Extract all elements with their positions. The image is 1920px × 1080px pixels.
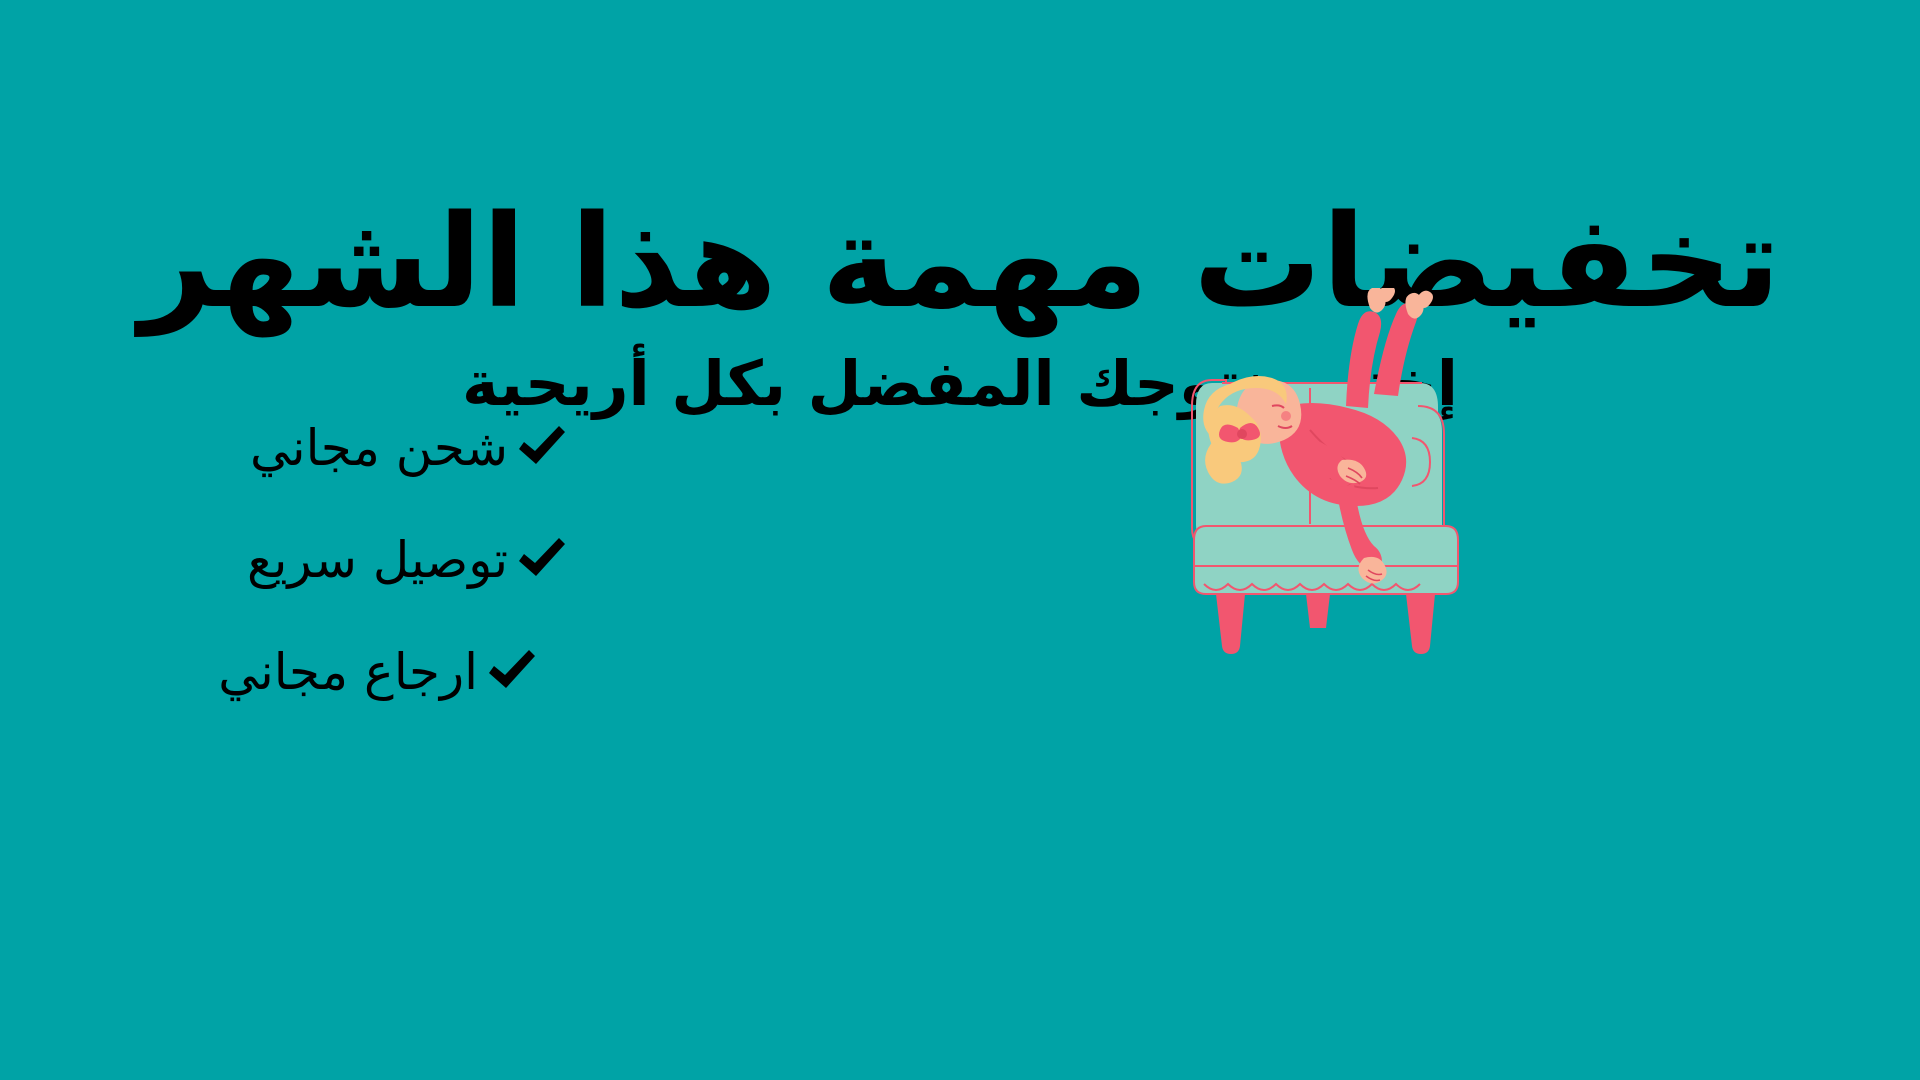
list-item-label: توصيل سريع — [247, 535, 508, 585]
check-icon — [484, 644, 540, 700]
check-icon — [514, 420, 570, 476]
woman-relaxing-on-armchair-illustration — [1160, 288, 1490, 668]
list-item: ارجاع مجاني — [0, 616, 1230, 728]
page-title: تخفيضات مهمة هذا الشهر — [0, 194, 1920, 332]
promo-banner: تخفيضات مهمة هذا الشهر إختر منتوجك المفض… — [0, 0, 1920, 1080]
check-icon — [514, 532, 570, 588]
list-item-label: ارجاع مجاني — [218, 647, 478, 697]
list-item: توصيل سريع — [0, 504, 1230, 616]
list-item: شحن مجاني — [0, 392, 1230, 504]
feature-list: شحن مجاني توصيل سريع ارجاع مجاني — [0, 392, 1230, 728]
list-item-label: شحن مجاني — [250, 423, 508, 473]
